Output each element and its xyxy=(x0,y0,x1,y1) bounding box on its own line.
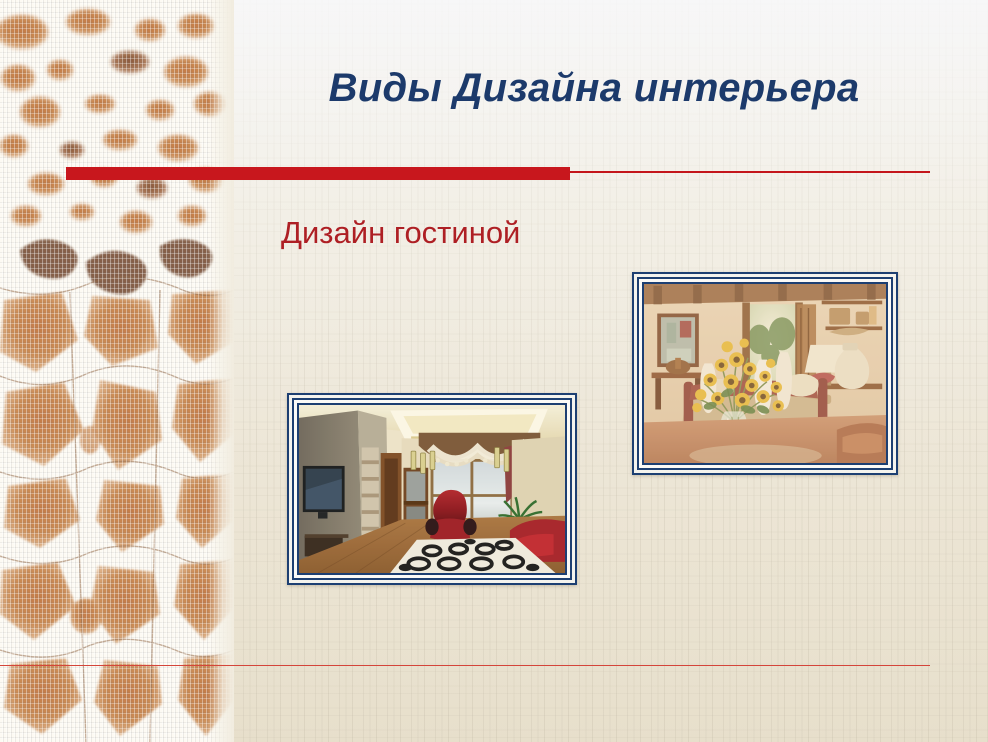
modern-living-room-image xyxy=(299,405,565,573)
photo-frame-inner-mat xyxy=(294,400,570,578)
giraffe-pattern-graphic xyxy=(0,0,234,742)
photo-frame-outer-mat xyxy=(634,274,896,473)
photo-frame-inner-mat xyxy=(639,279,891,468)
slide-subtitle: Дизайн гостиной xyxy=(281,215,520,251)
modern-living-room-photo[interactable] xyxy=(287,393,577,585)
rustic-living-room-photo[interactable] xyxy=(632,272,898,475)
presentation-slide: Виды Дизайна интерьера Дизайн гостиной xyxy=(0,0,988,742)
rustic-living-room-image xyxy=(644,284,886,463)
giraffe-print-sidebar xyxy=(0,0,234,742)
footer-divider-line xyxy=(0,665,930,666)
photo-frame-outer-mat xyxy=(289,395,575,583)
slide-title: Виды Дизайна интерьера xyxy=(258,66,930,111)
title-underline-thick xyxy=(66,167,570,180)
sidebar-fade-edge xyxy=(208,0,234,742)
